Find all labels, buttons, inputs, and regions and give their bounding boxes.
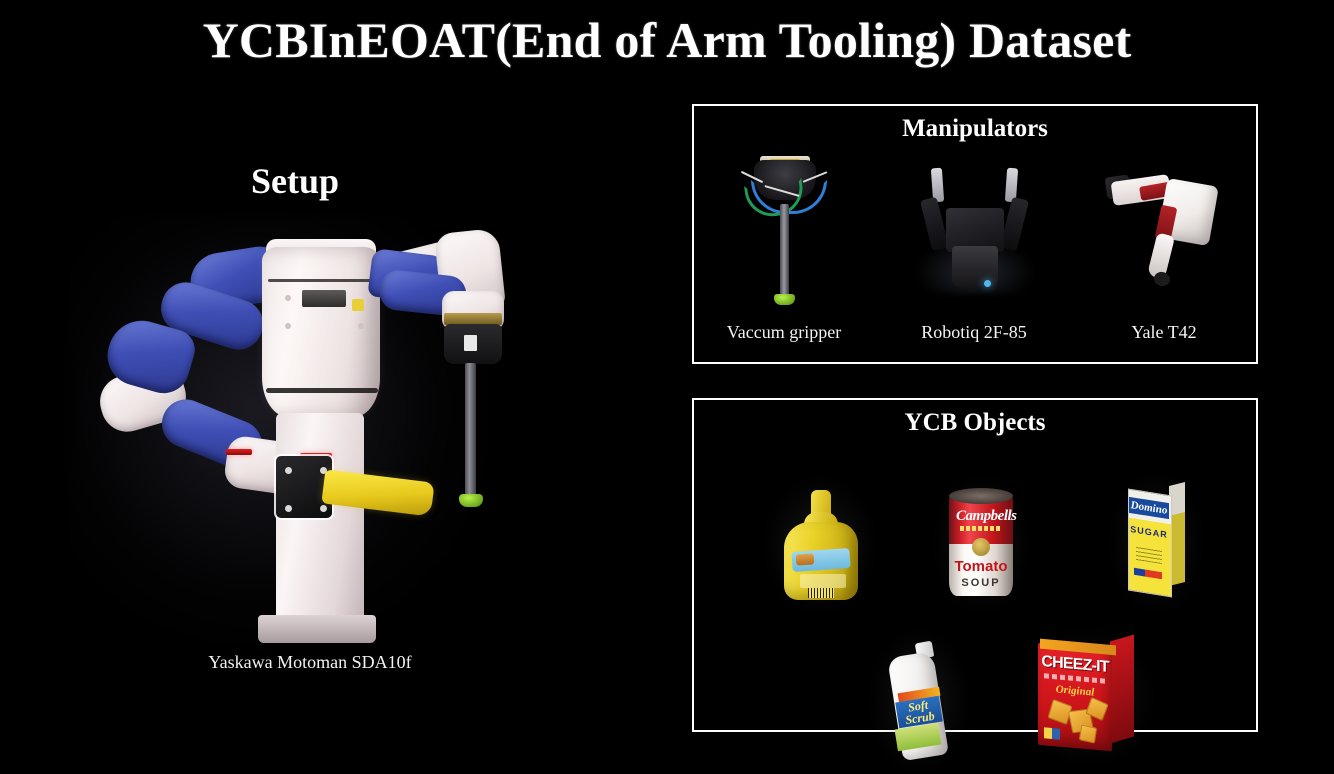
soup-can-medallion [972,538,990,556]
mustard-label-text-block [800,574,846,588]
robot-torso-seam-lower [266,388,378,393]
robotiq-gripper-icon [884,146,1064,316]
ycb-panel-title: YCB Objects [694,409,1256,437]
soup-can-brand: Campbells [956,508,1006,524]
cracker-box-badge [1044,727,1060,739]
robot-torso-dot [285,323,291,329]
yale-t42-hand-icon [1074,146,1254,316]
robotiq-status-led [984,280,991,287]
mustard-barcode [808,588,834,598]
ycb-object-cracker-box[interactable]: CHEEZ-IT Original [1036,640,1140,752]
robot-photo [40,195,640,650]
manipulator-item-vacuum-gripper[interactable]: Vaccum gripper [694,146,874,316]
robot-chest-panel [302,290,346,307]
vacuum-gripper-icon [694,146,874,316]
vacuum-gripper-suction-cup [774,294,795,305]
ycb-objects-area: Campbells Tomato SOUP Domino SUGAR [694,444,1256,724]
manipulators-row: Vaccum gripper Robotiq 2F-85 [694,146,1256,356]
ycb-object-sugar-box[interactable]: Domino SUGAR [1124,486,1188,598]
robotiq-base [952,246,998,286]
robot-torso-dot [358,323,364,329]
soup-can-flavor: Tomato [952,558,1010,576]
gripper-hole [285,467,292,474]
vacuum-gripper-tube [465,363,476,496]
mustard-label-artwork [796,553,815,565]
manipulators-panel: Manipulators Vaccum gripper [692,104,1258,364]
soup-can-condensed-strip [960,526,1002,531]
soup-can-type: SOUP [952,576,1010,590]
ycb-object-tomato-soup-can[interactable]: Campbells Tomato SOUP [948,488,1014,600]
robot-column [276,413,364,643]
robot-left-red-marker [226,449,252,455]
manipulator-item-yale-t42[interactable]: Yale T42 [1074,146,1254,316]
soup-can-lid [949,488,1013,504]
ycb-object-cleanser-bottle[interactable]: Soft Scrub [884,642,954,760]
setup-caption: Yaskawa Motoman SDA10f [110,652,510,673]
vacuum-gripper-badge [464,335,477,351]
ycb-object-mustard-bottle[interactable] [778,490,862,600]
manipulator-label-vacuum-gripper: Vaccum gripper [694,322,874,343]
gripper-hole [320,505,327,512]
gripper-hole [285,505,292,512]
ycb-objects-panel: YCB Objects Campbells [692,398,1258,732]
slide-root: YCBInEOAT(End of Arm Tooling) Dataset Se… [0,0,1334,751]
robot-torso-seam-upper [268,279,374,282]
manipulator-label-yale-t42: Yale T42 [1074,322,1254,343]
robot-base [258,615,376,643]
vacuum-gripper-tube [780,204,789,296]
cracker-graphic [1079,724,1097,743]
page-title: YCBInEOAT(End of Arm Tooling) Dataset [0,14,1334,67]
manipulator-item-robotiq[interactable]: Robotiq 2F-85 [884,146,1064,316]
vacuum-gripper-suction-cup [459,494,483,507]
manipulator-label-robotiq: Robotiq 2F-85 [884,322,1064,343]
manipulators-panel-title: Manipulators [694,115,1256,143]
robot-yellow-marker [352,299,364,311]
robot-torso-dot [285,295,291,301]
yale-t42-fingertip [1153,270,1172,287]
